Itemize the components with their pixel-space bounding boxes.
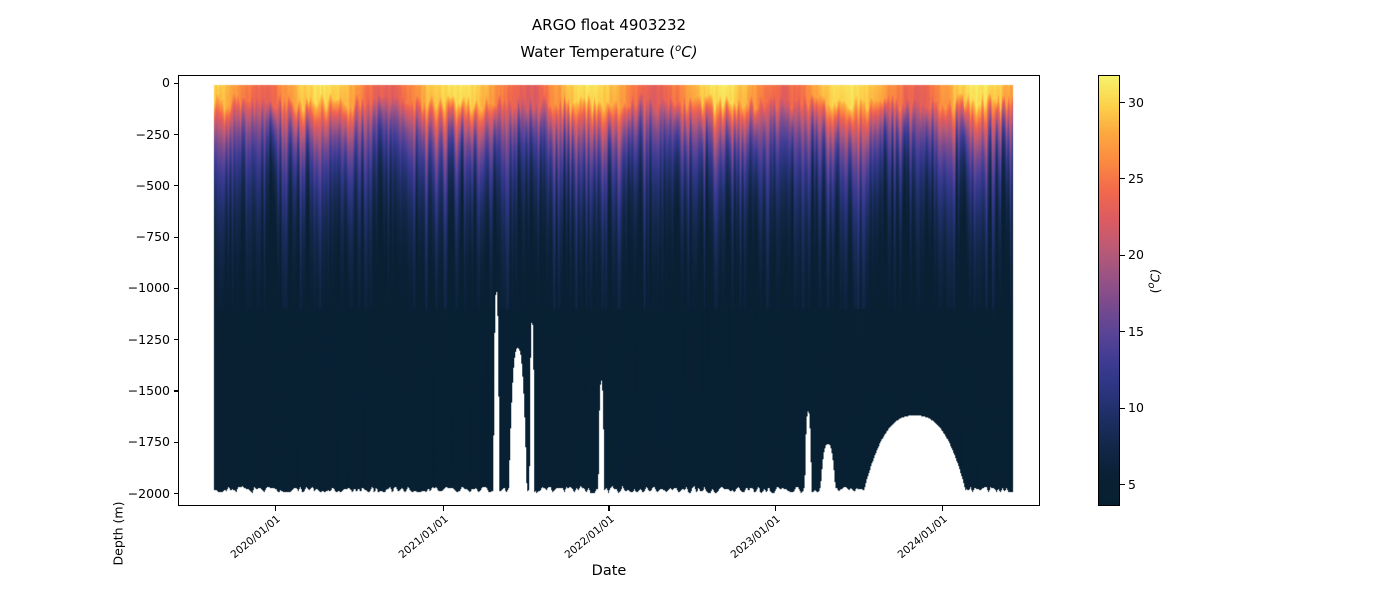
- colorbar-tick-mark: [1120, 484, 1125, 485]
- y-tick-mark: [174, 134, 179, 135]
- colorbar-tick-mark: [1120, 331, 1125, 332]
- colorbar-label-prefix: (: [1147, 289, 1162, 294]
- colorbar-tick-mark: [1120, 102, 1125, 103]
- y-tick-label: 0: [162, 74, 170, 92]
- y-axis: 0−250−500−750−1000−1250−1500−1750−2000: [0, 75, 178, 506]
- y-tick-mark: [174, 442, 179, 443]
- title-line-1: ARGO float 4903232: [178, 14, 1040, 37]
- colorbar: [1098, 75, 1120, 506]
- y-tick-mark: [174, 288, 179, 289]
- colorbar-tick-label: 10: [1128, 399, 1144, 417]
- figure-canvas: ARGO float 4903232 Water Temperature (oC…: [0, 0, 1400, 600]
- y-tick-mark: [174, 83, 179, 84]
- y-tick-label: −250: [136, 126, 170, 144]
- y-tick-label: −500: [136, 177, 170, 195]
- temperature-heatmap: [179, 76, 1039, 505]
- colorbar-tick-mark: [1120, 255, 1125, 256]
- x-tick-mark: [443, 506, 444, 511]
- title-line-2-prefix: Water Temperature (: [520, 43, 675, 61]
- y-tick-label: −750: [136, 228, 170, 246]
- y-axis-label: Depth (m): [110, 502, 125, 566]
- x-tick-mark: [775, 506, 776, 511]
- x-tick-mark: [275, 506, 276, 511]
- x-tick-mark: [942, 506, 943, 511]
- title-line-2: Water Temperature (oC): [178, 37, 1040, 64]
- colorbar-tick-label: 25: [1128, 170, 1144, 188]
- colorbar-label-suffix: C): [1147, 269, 1162, 283]
- heatmap-plot-area: [178, 75, 1040, 506]
- y-tick-label: −2000: [128, 485, 170, 503]
- y-tick-label: −1000: [128, 279, 170, 297]
- y-tick-mark: [174, 185, 179, 186]
- x-axis: 2020/01/012021/01/012022/01/012023/01/01…: [178, 506, 1040, 566]
- y-tick-mark: [174, 493, 179, 494]
- y-tick-mark: [174, 390, 179, 391]
- y-tick-label: −1250: [128, 331, 170, 349]
- y-tick-mark: [174, 339, 179, 340]
- x-axis-label: Date: [178, 563, 1040, 579]
- y-tick-mark: [174, 237, 179, 238]
- colorbar-label: (oC): [1146, 269, 1162, 294]
- colorbar-tick-mark: [1120, 408, 1125, 409]
- x-tick-mark: [608, 506, 609, 511]
- colorbar-tick-label: 5: [1128, 476, 1136, 494]
- title-line-2-suffix: C): [681, 43, 697, 61]
- y-tick-label: −1750: [128, 433, 170, 451]
- colorbar-tick-label: 15: [1128, 323, 1144, 341]
- colorbar-gradient: [1099, 76, 1119, 505]
- colorbar-tick-mark: [1120, 178, 1125, 179]
- colorbar-degree-superscript: o: [1146, 282, 1157, 288]
- colorbar-tick-label: 30: [1128, 94, 1144, 112]
- y-tick-label: −1500: [128, 382, 170, 400]
- colorbar-tick-label: 20: [1128, 246, 1144, 264]
- figure-title: ARGO float 4903232 Water Temperature (oC…: [178, 14, 1040, 64]
